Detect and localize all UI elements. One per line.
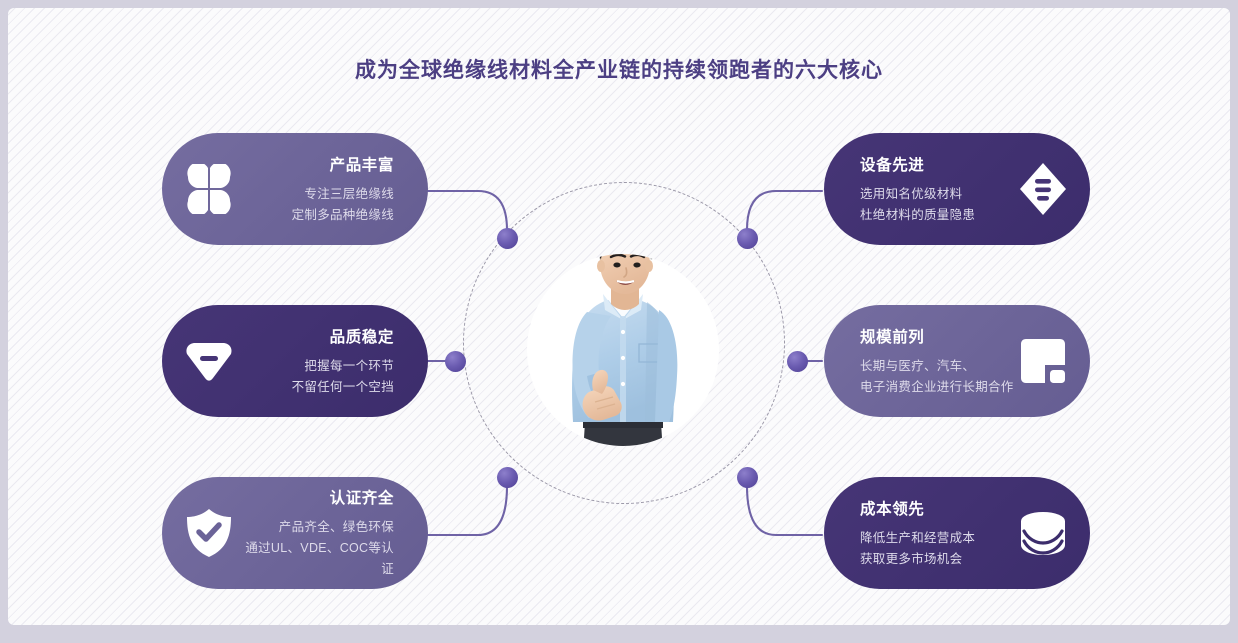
card-line-2: 杜绝材料的质量隐患 xyxy=(860,205,1016,226)
four-petal-flower-icon xyxy=(182,162,236,216)
wire-cost-leading xyxy=(747,486,822,535)
card-text-block: 成本领先 降低生产和经营成本 获取更多市场机会 xyxy=(850,497,1016,570)
card-line-1: 长期与医疗、汽车、 xyxy=(860,356,1016,377)
diamond-bars-icon xyxy=(1016,162,1070,216)
card-text-block: 规模前列 长期与医疗、汽车、 电子消费企业进行长期合作 xyxy=(850,325,1016,398)
connector-node-certification-complete xyxy=(497,467,518,488)
wire-equipment-advanced xyxy=(747,191,822,230)
card-title: 成本领先 xyxy=(860,497,1016,519)
wire-certification-complete xyxy=(426,486,507,535)
card-product-rich[interactable]: 产品丰富 专注三层绝缘线 定制多品种绝缘线 xyxy=(162,133,428,245)
card-text-block: 产品丰富 专注三层绝缘线 定制多品种绝缘线 xyxy=(236,153,402,226)
card-line-1: 把握每一个环节 xyxy=(236,356,394,377)
card-text-block: 认证齐全 产品齐全、绿色环保 通过UL、VDE、COC等认证 xyxy=(236,486,402,580)
shield-check-icon xyxy=(182,506,236,560)
card-title: 品质稳定 xyxy=(236,325,394,347)
connector-node-quality-stable xyxy=(445,351,466,372)
card-certification-complete[interactable]: 认证齐全 产品齐全、绿色环保 通过UL、VDE、COC等认证 xyxy=(162,477,428,589)
card-line-1: 产品齐全、绿色环保 xyxy=(236,517,394,538)
card-text-block: 设备先进 选用知名优级材料 杜绝材料的质量隐患 xyxy=(850,153,1016,226)
connector-node-cost-leading xyxy=(737,467,758,488)
wire-product-rich xyxy=(426,191,507,230)
card-cost-leading[interactable]: 成本领先 降低生产和经营成本 获取更多市场机会 xyxy=(824,477,1090,589)
connector-node-equipment-advanced xyxy=(737,228,758,249)
card-quality-stable[interactable]: 品质稳定 把握每一个环节 不留任何一个空挡 xyxy=(162,305,428,417)
card-line-2: 获取更多市场机会 xyxy=(860,549,1016,570)
card-text-block: 品质稳定 把握每一个环节 不留任何一个空挡 xyxy=(236,325,402,398)
card-line-1: 选用知名优级材料 xyxy=(860,184,1016,205)
card-title: 产品丰富 xyxy=(236,153,394,175)
card-title: 设备先进 xyxy=(860,153,1016,175)
card-scale-leading[interactable]: 规模前列 长期与医疗、汽车、 电子消费企业进行长期合作 xyxy=(824,305,1090,417)
page-title: 成为全球绝缘线材料全产业链的持续领跑者的六大核心 xyxy=(8,54,1230,84)
connector-node-product-rich xyxy=(497,228,518,249)
card-line-2: 电子消费企业进行长期合作 xyxy=(860,377,1016,398)
gem-minus-icon xyxy=(182,334,236,388)
card-line-2: 通过UL、VDE、COC等认证 xyxy=(236,538,394,580)
card-line-1: 降低生产和经营成本 xyxy=(860,528,1016,549)
infographic-canvas: 成为全球绝缘线材料全产业链的持续领跑者的六大核心 xyxy=(8,8,1230,625)
card-line-2: 不留任何一个空挡 xyxy=(236,377,394,398)
card-line-2: 定制多品种绝缘线 xyxy=(236,205,394,226)
card-title: 认证齐全 xyxy=(236,486,394,508)
card-equipment-advanced[interactable]: 设备先进 选用知名优级材料 杜绝材料的质量隐患 xyxy=(824,133,1090,245)
card-title: 规模前列 xyxy=(860,325,1016,347)
blocks-square-icon xyxy=(1016,334,1070,388)
card-line-1: 专注三层绝缘线 xyxy=(236,184,394,205)
database-stack-icon xyxy=(1016,506,1070,560)
connector-node-scale-leading xyxy=(787,351,808,372)
person-photo xyxy=(527,226,719,454)
